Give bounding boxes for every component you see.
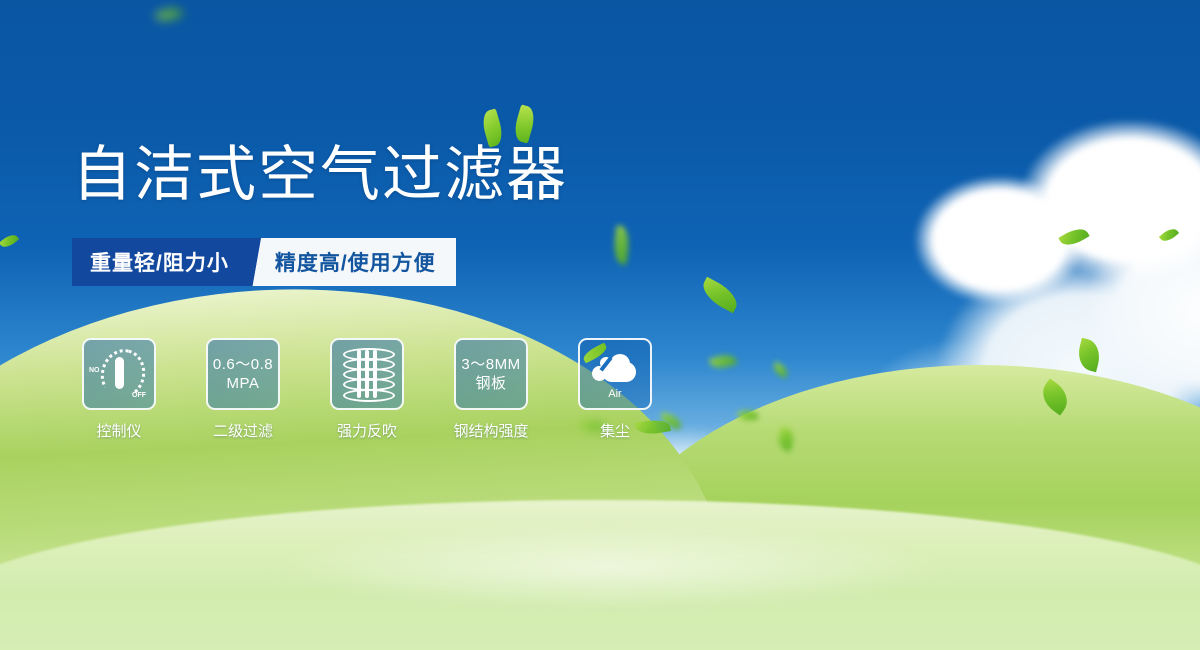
floating-leaf-icon [611,225,631,265]
feature-caption: 集尘 [600,420,630,441]
ground-field [0,480,1200,650]
feature-box: 0.6～0.8 MPA [206,338,280,410]
feature-box: NO OFF [82,338,156,410]
floating-leaf-icon [154,3,183,25]
feature-box: Air [578,338,652,410]
field-path [180,512,1040,622]
floating-leaf-icon [0,231,19,250]
feature-caption: 控制仪 [96,420,141,441]
sprout-leaves-icon [474,102,544,150]
hero-banner: 自洁式空气过滤器 重量轻/阻力小 精度高/使用方便 NO OFF 控制仪 0.6… [0,0,1200,650]
subtitle-right: 精度高/使用方便 [271,238,456,286]
gauge-no-label: NO [89,367,100,374]
feature-caption: 强力反吹 [337,420,397,441]
floating-leaf-icon [698,277,743,313]
floating-leaf-icon [709,351,738,371]
subtitle-bar: 重量轻/阻力小 精度高/使用方便 [72,238,456,286]
feature-item-pressure[interactable]: 0.6～0.8 MPA 二级过滤 [206,338,280,441]
feature-caption: 二级过滤 [213,420,273,441]
gauge-off-label: OFF [132,392,146,399]
feature-list: NO OFF 控制仪 0.6～0.8 MPA 二级过滤 [82,338,652,441]
subtitle-left: 重量轻/阻力小 [72,238,245,286]
air-cloud-icon: Air [588,352,642,396]
subtitle-divider [245,238,271,286]
title-block: 自洁式空气过滤器 [72,140,568,210]
feature-caption: 钢结构强度 [454,420,529,441]
feature-box [330,338,404,410]
pressure-value-bottom: MPA [227,374,260,393]
feature-item-blowback[interactable]: 强力反吹 [330,338,404,441]
feature-box: 3～8MM 钢板 [454,338,528,410]
steel-value-bottom: 钢板 [475,374,506,393]
gauge-dial-icon: NO OFF [90,345,148,403]
steel-value-top: 3～8MM [461,355,520,374]
blowback-coil-icon [343,348,391,400]
page-title: 自洁式空气过滤器 [72,140,568,210]
air-label: Air [588,388,642,400]
feature-item-controller[interactable]: NO OFF 控制仪 [82,338,156,441]
floating-leaf-icon [771,361,791,378]
feature-item-steel[interactable]: 3～8MM 钢板 钢结构强度 [454,338,528,441]
pressure-value-top: 0.6～0.8 [213,355,273,374]
